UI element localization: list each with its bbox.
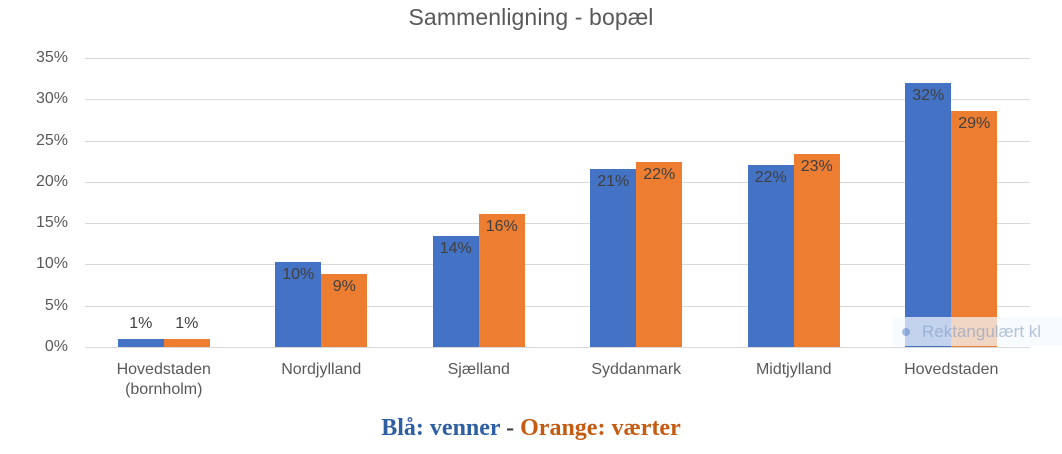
y-tick-label: 0% (45, 338, 68, 356)
gridline (85, 99, 1030, 100)
bar-værter-3[interactable] (636, 162, 682, 347)
x-tick-label-line: Midtjylland (715, 360, 873, 380)
x-tick-label-3: Syddanmark (558, 360, 716, 380)
bar-værter-4[interactable] (794, 154, 840, 347)
x-tick-label-line: Syddanmark (558, 360, 716, 380)
y-tick-label: 35% (36, 49, 68, 67)
x-tick-label-line: Sjælland (400, 360, 558, 380)
bar-label-værter-5: 29% (951, 115, 997, 133)
x-axis-labels: Hovedstaden(bornholm)NordjyllandSjælland… (85, 352, 1030, 414)
gridline (85, 347, 1030, 348)
x-tick-label-4: Midtjylland (715, 360, 873, 380)
bar-værter-0[interactable] (164, 339, 210, 347)
gridline (85, 182, 1030, 183)
caption-venner: Blå: venner (381, 415, 500, 441)
caption-vaerter: Orange: værter (520, 415, 681, 441)
bar-værter-5[interactable] (951, 111, 997, 347)
gridline (85, 223, 1030, 224)
y-tick-label: 15% (36, 214, 68, 232)
x-tick-label-line: Hovedstaden (873, 360, 1031, 380)
y-tick-label: 5% (45, 297, 68, 315)
gridline (85, 141, 1030, 142)
gridline (85, 264, 1030, 265)
plot-area: 1%1%10%9%14%16%21%22%22%23%32%29% (85, 58, 1030, 347)
bar-venner-3[interactable] (590, 169, 636, 347)
chart-title: Sammenligning - bopæl (0, 4, 1062, 31)
y-axis-labels: 35%30%25%20%15%10%5%0% (0, 58, 78, 347)
x-tick-label-1: Nordjylland (243, 360, 401, 380)
y-tick-label: 25% (36, 132, 68, 150)
y-tick-label: 10% (36, 255, 68, 273)
bar-label-venner-0: 1% (118, 315, 164, 333)
bar-label-venner-1: 10% (275, 266, 321, 284)
bar-chart: Sammenligning - bopæl 35%30%25%20%15%10%… (0, 0, 1062, 454)
x-tick-label-0: Hovedstaden(bornholm) (85, 360, 243, 400)
bar-label-værter-4: 23% (794, 158, 840, 176)
bar-label-værter-2: 16% (479, 218, 525, 236)
gridline (85, 58, 1030, 59)
x-tick-label-line: Nordjylland (243, 360, 401, 380)
chart-caption: Blå: venner - Orange: værter (0, 415, 1062, 442)
bar-label-venner-2: 14% (433, 240, 479, 258)
gridline (85, 306, 1030, 307)
x-tick-label-5: Hovedstaden (873, 360, 1031, 380)
bar-label-venner-5: 32% (905, 87, 951, 105)
bar-venner-4[interactable] (748, 165, 794, 347)
x-tick-label-line: (bornholm) (85, 380, 243, 400)
y-tick-label: 20% (36, 173, 68, 191)
y-tick-label: 30% (36, 90, 68, 108)
bar-venner-0[interactable] (118, 339, 164, 347)
x-tick-label-line: Hovedstaden (85, 360, 243, 380)
bar-label-venner-3: 21% (590, 173, 636, 191)
bar-label-venner-4: 22% (748, 169, 794, 187)
caption-dash: - (500, 415, 520, 441)
bar-label-værter-1: 9% (321, 278, 367, 296)
bar-label-værter-3: 22% (636, 166, 682, 184)
bar-venner-5[interactable] (905, 83, 951, 347)
x-tick-label-2: Sjælland (400, 360, 558, 380)
bar-label-værter-0: 1% (164, 315, 210, 333)
